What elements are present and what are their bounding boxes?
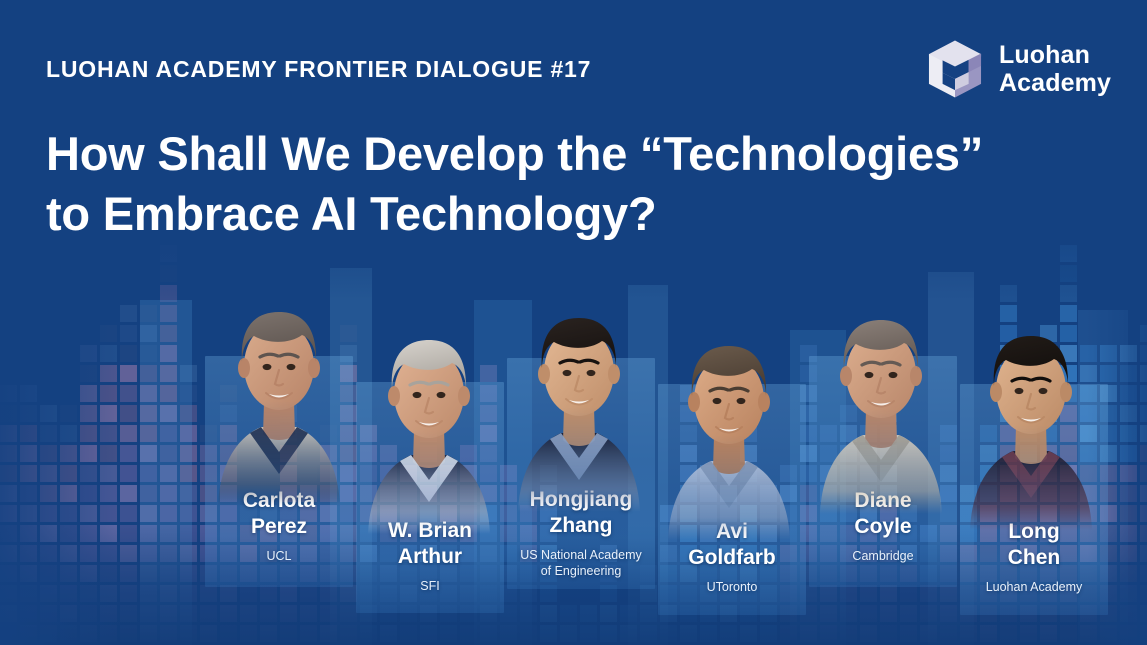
mosaic-tile xyxy=(160,325,177,342)
mosaic-tile xyxy=(0,565,17,582)
mosaic-tile xyxy=(240,625,257,642)
mosaic-tile xyxy=(1120,505,1137,522)
mosaic-tile xyxy=(120,625,137,642)
mosaic-tile xyxy=(1140,385,1147,402)
mosaic-tile xyxy=(120,405,137,422)
mosaic-tile xyxy=(420,625,437,642)
mosaic-tile xyxy=(160,465,177,482)
mosaic-tile xyxy=(100,605,117,622)
mosaic-tile xyxy=(40,505,57,522)
mosaic-tile xyxy=(1140,565,1147,582)
mosaic-tile xyxy=(60,525,77,542)
mosaic-tile xyxy=(300,605,317,622)
speaker-name-line-2: Coyle xyxy=(809,514,957,540)
portrait-illustration xyxy=(366,302,492,534)
mosaic-tile xyxy=(80,365,97,382)
mosaic-tile xyxy=(180,565,197,582)
mosaic-tile xyxy=(80,465,97,482)
mosaic-tile xyxy=(340,585,357,602)
mosaic-tile xyxy=(160,305,177,322)
mosaic-tile xyxy=(1120,525,1137,542)
mosaic-tile xyxy=(1120,465,1137,482)
mosaic-tile xyxy=(480,625,497,642)
mosaic-tile xyxy=(460,625,477,642)
mosaic-tile xyxy=(80,605,97,622)
mosaic-tile xyxy=(1140,465,1147,482)
mosaic-tile xyxy=(20,625,37,642)
mosaic-tile xyxy=(840,585,857,602)
mosaic-tile xyxy=(280,625,297,642)
mosaic-tile xyxy=(540,605,557,622)
portrait-illustration xyxy=(516,280,642,512)
mosaic-tile xyxy=(560,605,577,622)
mosaic-tile xyxy=(120,605,137,622)
mosaic-tile xyxy=(300,585,317,602)
mosaic-tile xyxy=(60,405,77,422)
title-line-2: to Embrace AI Technology? xyxy=(46,184,1046,244)
mosaic-tile xyxy=(140,345,157,362)
mosaic-tile xyxy=(120,325,137,342)
mosaic-tile xyxy=(180,465,197,482)
mosaic-tile xyxy=(160,265,177,282)
mosaic-tile xyxy=(120,525,137,542)
speaker-affiliation: Luohan Academy xyxy=(960,579,1108,595)
mosaic-tile xyxy=(1040,625,1057,642)
mosaic-tile xyxy=(140,565,157,582)
mosaic-tile xyxy=(140,385,157,402)
mosaic-tile xyxy=(160,565,177,582)
mosaic-tile xyxy=(80,625,97,642)
mosaic-tile xyxy=(560,625,577,642)
mosaic-tile xyxy=(0,405,17,422)
mosaic-tile xyxy=(900,585,917,602)
mosaic-tile xyxy=(180,445,197,462)
mosaic-tile xyxy=(280,585,297,602)
mosaic-tile xyxy=(160,365,177,382)
mosaic-tile xyxy=(0,625,17,642)
mosaic-tile xyxy=(100,565,117,582)
mosaic-tile xyxy=(100,365,117,382)
mosaic-tile xyxy=(1120,345,1137,362)
mosaic-tile xyxy=(180,525,197,542)
mosaic-tile xyxy=(860,625,877,642)
mosaic-tile xyxy=(100,425,117,442)
mosaic-tile xyxy=(1120,605,1137,622)
mosaic-tile xyxy=(160,605,177,622)
mosaic-tile xyxy=(140,485,157,502)
mosaic-tile xyxy=(1060,265,1077,282)
mosaic-tile xyxy=(920,625,937,642)
mosaic-tile xyxy=(140,605,157,622)
mosaic-tile xyxy=(160,505,177,522)
mosaic-tile xyxy=(0,385,17,402)
mosaic-tile xyxy=(100,485,117,502)
mosaic-tile xyxy=(820,605,837,622)
mosaic-tile xyxy=(80,565,97,582)
mosaic-tile xyxy=(0,485,17,502)
mosaic-tile xyxy=(600,605,617,622)
page-title: How Shall We Develop the “Technologies” … xyxy=(46,124,1046,244)
speaker-portrait-avi-goldfarb xyxy=(666,308,792,540)
mosaic-tile xyxy=(180,505,197,522)
mosaic-tile xyxy=(1060,625,1077,642)
mosaic-tile xyxy=(140,625,157,642)
mosaic-tile xyxy=(920,585,937,602)
mosaic-tile xyxy=(580,625,597,642)
mosaic-tile xyxy=(1000,625,1017,642)
mosaic-tile xyxy=(1120,545,1137,562)
mosaic-tile xyxy=(1080,625,1097,642)
speaker-affiliation-line-1: Luohan Academy xyxy=(960,579,1108,595)
mosaic-tile xyxy=(1120,485,1137,502)
mosaic-tile xyxy=(1140,365,1147,382)
mosaic-tile xyxy=(0,525,17,542)
mosaic-tile xyxy=(140,365,157,382)
mosaic-tile xyxy=(1140,325,1147,342)
mosaic-tile xyxy=(160,245,177,262)
mosaic-tile xyxy=(600,625,617,642)
mosaic-tile xyxy=(760,625,777,642)
mosaic-tile xyxy=(720,625,737,642)
mosaic-tile xyxy=(840,625,857,642)
mosaic-tile xyxy=(380,625,397,642)
mosaic-tile xyxy=(60,465,77,482)
mosaic-tile xyxy=(40,545,57,562)
mosaic-tile xyxy=(360,625,377,642)
mosaic-tile xyxy=(20,505,37,522)
luohan-cube-logo-icon xyxy=(924,38,986,100)
mosaic-tile xyxy=(1120,405,1137,422)
mosaic-tile xyxy=(180,625,197,642)
mosaic-tile xyxy=(440,625,457,642)
mosaic-tile xyxy=(1140,445,1147,462)
mosaic-tile xyxy=(180,605,197,622)
mosaic-tile xyxy=(320,625,337,642)
mosaic-tile xyxy=(100,385,117,402)
mosaic-tile xyxy=(100,345,117,362)
mosaic-tile xyxy=(120,585,137,602)
mosaic-tile xyxy=(500,625,517,642)
mosaic-tile xyxy=(80,485,97,502)
mosaic-tile xyxy=(140,525,157,542)
speaker-affiliation-line-1: SFI xyxy=(356,578,504,594)
mosaic-tile xyxy=(20,385,37,402)
mosaic-tile xyxy=(1120,365,1137,382)
mosaic-tile xyxy=(60,585,77,602)
mosaic-tile xyxy=(1100,625,1117,642)
mosaic-tile xyxy=(320,605,337,622)
mosaic-tile xyxy=(880,605,897,622)
mosaic-tile xyxy=(80,385,97,402)
mosaic-tile xyxy=(20,585,37,602)
logo-line-2: Academy xyxy=(999,69,1111,97)
mosaic-tile xyxy=(1120,425,1137,442)
mosaic-tile xyxy=(60,505,77,522)
mosaic-tile xyxy=(100,465,117,482)
mosaic-tile xyxy=(0,505,17,522)
mosaic-tile xyxy=(40,485,57,502)
mosaic-tile xyxy=(120,385,137,402)
mosaic-tile xyxy=(160,625,177,642)
speaker-portrait-w-brian-arthur xyxy=(366,302,492,534)
mosaic-tile xyxy=(940,585,957,602)
speaker-affiliation: UCL xyxy=(205,548,353,564)
mosaic-tile xyxy=(100,445,117,462)
mosaic-tile xyxy=(140,545,157,562)
mosaic-tile xyxy=(20,605,37,622)
mosaic-tile xyxy=(100,325,117,342)
mosaic-tile xyxy=(100,625,117,642)
mosaic-tile xyxy=(520,625,537,642)
mosaic-tile xyxy=(60,625,77,642)
mosaic-tile xyxy=(260,585,277,602)
mosaic-tile xyxy=(400,625,417,642)
mosaic-tile xyxy=(120,505,137,522)
speaker-affiliation: US National Academy of Engineering xyxy=(507,547,655,580)
mosaic-tile xyxy=(140,305,157,322)
mosaic-tile xyxy=(100,525,117,542)
mosaic-tile xyxy=(120,565,137,582)
mosaic-tile xyxy=(140,465,157,482)
speaker-name-line-2: Chen xyxy=(960,545,1108,571)
mosaic-tile xyxy=(80,405,97,422)
mosaic-tile xyxy=(180,485,197,502)
speaker-portrait-carlota-perez xyxy=(216,274,342,506)
speaker-affiliation-line-1: Cambridge xyxy=(809,548,957,564)
mosaic-tile xyxy=(820,625,837,642)
mosaic-tile xyxy=(540,625,557,642)
left-fade-overlay xyxy=(0,0,120,645)
mosaic-tile xyxy=(140,405,157,422)
mosaic-tile xyxy=(40,525,57,542)
mosaic-tile xyxy=(0,445,17,462)
mosaic-tile xyxy=(1020,625,1037,642)
mosaic-tile xyxy=(60,545,77,562)
mosaic-tile xyxy=(1120,385,1137,402)
mosaic-tile xyxy=(160,385,177,402)
mosaic-tile xyxy=(180,585,197,602)
mosaic-tile xyxy=(160,345,177,362)
portrait-illustration xyxy=(818,282,944,514)
speaker-name-line-2: Goldfarb xyxy=(658,545,806,571)
mosaic-tile xyxy=(980,625,997,642)
mosaic-tile xyxy=(60,425,77,442)
mosaic-tile xyxy=(160,485,177,502)
mosaic-tile xyxy=(240,585,257,602)
mosaic-tile xyxy=(700,625,717,642)
speaker-portrait-hongjiang-zhang xyxy=(516,280,642,512)
mosaic-tile xyxy=(0,585,17,602)
mosaic-tile xyxy=(80,505,97,522)
mosaic-tile xyxy=(40,465,57,482)
mosaic-tile xyxy=(1140,505,1147,522)
speaker-name-line-2: Zhang xyxy=(507,513,655,539)
mosaic-tile xyxy=(120,465,137,482)
mosaic-tile xyxy=(1100,365,1117,382)
mosaic-tile xyxy=(100,405,117,422)
luohan-academy-logo[interactable]: Luohan Academy xyxy=(924,38,1111,100)
mosaic-tile xyxy=(140,325,157,342)
mosaic-tile xyxy=(520,605,537,622)
mosaic-tile xyxy=(1140,625,1147,642)
speaker-portrait-long-chen xyxy=(968,298,1094,538)
mosaic-tile xyxy=(0,545,17,562)
mosaic-tile xyxy=(120,445,137,462)
mosaic-tile xyxy=(260,605,277,622)
event-eyebrow: LUOHAN ACADEMY FRONTIER DIALOGUE #17 xyxy=(46,56,591,83)
mosaic-tile xyxy=(1140,545,1147,562)
title-line-1: How Shall We Develop the “Technologies” xyxy=(46,124,1046,184)
mosaic-tile xyxy=(1120,585,1137,602)
mosaic-tile xyxy=(40,405,57,422)
mosaic-tile xyxy=(20,445,37,462)
mosaic-tile xyxy=(640,625,657,642)
mosaic-tile xyxy=(40,625,57,642)
mosaic-tile xyxy=(40,605,57,622)
mosaic-tile xyxy=(1140,605,1147,622)
mosaic-tile xyxy=(180,365,197,382)
mosaic-tile xyxy=(220,585,237,602)
mosaic-tile xyxy=(340,325,357,342)
mosaic-tile xyxy=(780,625,797,642)
mosaic-tile xyxy=(20,465,37,482)
mosaic-tile xyxy=(160,425,177,442)
mosaic-tile xyxy=(920,605,937,622)
mosaic-tile xyxy=(140,425,157,442)
mosaic-tile xyxy=(860,605,877,622)
mosaic-tile xyxy=(0,605,17,622)
mosaic-tile xyxy=(840,605,857,622)
mosaic-tile xyxy=(1100,345,1117,362)
speaker-portrait-diane-coyle xyxy=(818,282,944,514)
mosaic-tile xyxy=(160,525,177,542)
mosaic-tile xyxy=(1120,445,1137,462)
mosaic-tile xyxy=(1140,425,1147,442)
mosaic-tile xyxy=(140,505,157,522)
mosaic-tile xyxy=(880,625,897,642)
portrait-illustration xyxy=(666,308,792,540)
mosaic-tile xyxy=(340,625,357,642)
mosaic-tile xyxy=(240,605,257,622)
mosaic-tile xyxy=(200,605,217,622)
mosaic-tile xyxy=(120,425,137,442)
mosaic-tile xyxy=(120,485,137,502)
mosaic-tile xyxy=(80,425,97,442)
mosaic-tile xyxy=(900,605,917,622)
mosaic-tile xyxy=(740,625,757,642)
mosaic-tile xyxy=(80,345,97,362)
mosaic-tile xyxy=(280,605,297,622)
mosaic-tile xyxy=(60,605,77,622)
speaker-affiliation-line-1: UToronto xyxy=(658,579,806,595)
mosaic-tile xyxy=(40,445,57,462)
mosaic-tile xyxy=(880,585,897,602)
mosaic-tile xyxy=(320,585,337,602)
portrait-illustration xyxy=(968,298,1094,530)
mosaic-tile xyxy=(100,545,117,562)
mosaic-tile xyxy=(660,625,677,642)
mosaic-tile xyxy=(180,425,197,442)
mosaic-tile xyxy=(120,545,137,562)
mosaic-tile xyxy=(1120,565,1137,582)
mosaic-tile xyxy=(260,625,277,642)
mosaic-tile xyxy=(0,465,17,482)
mosaic-tile xyxy=(620,625,637,642)
mosaic-tile xyxy=(40,585,57,602)
mosaic-tile xyxy=(20,565,37,582)
mosaic-tile xyxy=(80,525,97,542)
mosaic-tile xyxy=(1140,345,1147,362)
mosaic-tile xyxy=(940,605,957,622)
logo-wordmark: Luohan Academy xyxy=(999,41,1111,97)
speaker-affiliation-line-2: of Engineering xyxy=(507,563,655,579)
mosaic-tile xyxy=(1140,525,1147,542)
mosaic-tile xyxy=(160,405,177,422)
mosaic-tile xyxy=(180,545,197,562)
mosaic-tile xyxy=(640,605,657,622)
mosaic-tile xyxy=(180,405,197,422)
speaker-name-line-2: Perez xyxy=(205,514,353,540)
mosaic-tile xyxy=(120,365,137,382)
mosaic-tile xyxy=(580,605,597,622)
mosaic-tile xyxy=(820,585,837,602)
mosaic-tile xyxy=(340,605,357,622)
speaker-affiliation: Cambridge xyxy=(809,548,957,564)
mosaic-tile xyxy=(620,605,637,622)
mosaic-tile xyxy=(160,285,177,302)
mosaic-tile xyxy=(200,585,217,602)
mosaic-tile xyxy=(100,505,117,522)
mosaic-tile xyxy=(140,445,157,462)
mosaic-tile xyxy=(60,485,77,502)
mosaic-tile xyxy=(120,305,137,322)
mosaic-tile xyxy=(160,545,177,562)
mosaic-tile xyxy=(220,625,237,642)
speaker-affiliation-line-1: UCL xyxy=(205,548,353,564)
mosaic-tile xyxy=(1140,585,1147,602)
mosaic-tile xyxy=(160,445,177,462)
speaker-affiliation-line-1: US National Academy xyxy=(507,547,655,563)
mosaic-tile xyxy=(0,425,17,442)
mosaic-tile xyxy=(680,625,697,642)
mosaic-tile xyxy=(20,425,37,442)
poster-canvas: Carlota Perez UCL xyxy=(0,0,1147,645)
mosaic-tile xyxy=(20,525,37,542)
mosaic-tile xyxy=(300,625,317,642)
mosaic-tile xyxy=(960,625,977,642)
mosaic-tile xyxy=(200,625,217,642)
mosaic-tile xyxy=(40,425,57,442)
mosaic-tile xyxy=(40,565,57,582)
mosaic-slab xyxy=(140,300,192,645)
mosaic-tile xyxy=(20,405,37,422)
mosaic-tile xyxy=(80,585,97,602)
mosaic-tile xyxy=(940,625,957,642)
mosaic-tile xyxy=(100,585,117,602)
mosaic-tile xyxy=(120,345,137,362)
mosaic-tile xyxy=(860,585,877,602)
mosaic-tile xyxy=(900,625,917,642)
mosaic-tile xyxy=(800,625,817,642)
mosaic-tile xyxy=(1140,405,1147,422)
mosaic-tile xyxy=(140,585,157,602)
mosaic-tile xyxy=(1120,625,1137,642)
speaker-name-line-2: Arthur xyxy=(356,544,504,570)
mosaic-tile xyxy=(180,385,197,402)
logo-line-1: Luohan xyxy=(999,41,1111,69)
speaker-affiliation: UToronto xyxy=(658,579,806,595)
mosaic-tile xyxy=(60,565,77,582)
